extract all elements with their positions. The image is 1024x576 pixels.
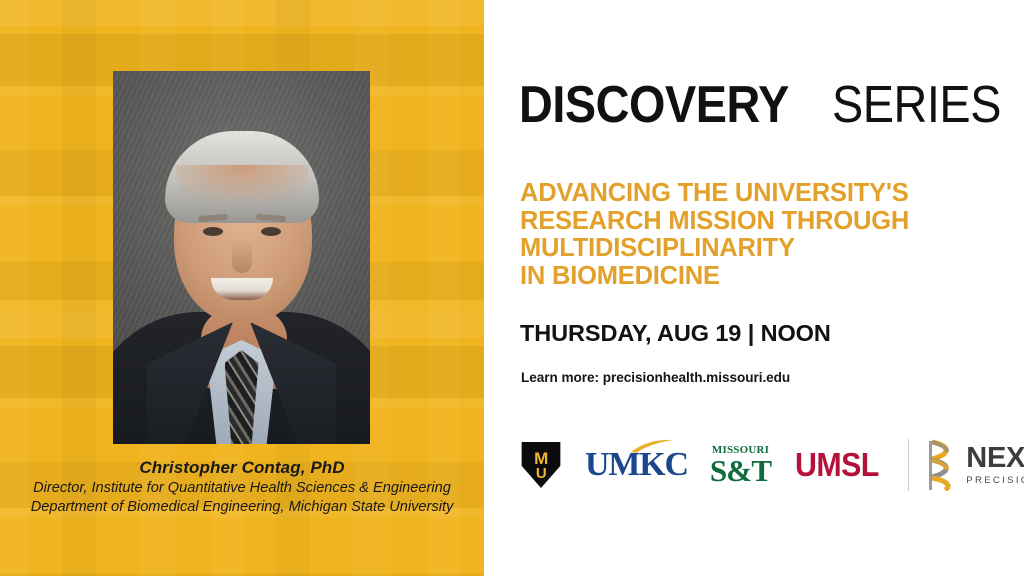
poster-content-column: DISCOVERY SERIES ADVANCING THE UNIVERSIT… bbox=[519, 0, 1024, 576]
headline-line-3: MULTIDISCIPLINARITY bbox=[520, 235, 1010, 263]
speaker-affiliation-line-1: Director, Institute for Quantitative Hea… bbox=[0, 479, 484, 498]
mu-letter-u: U bbox=[519, 466, 563, 481]
headline-line-4: IN BIOMEDICINE bbox=[520, 263, 1010, 291]
missouri-st-main-word: S&T bbox=[710, 456, 771, 486]
umsl-logo: UMSL bbox=[795, 446, 879, 484]
portrait-nose bbox=[232, 239, 252, 273]
portrait-eye-left bbox=[203, 227, 223, 236]
gold-background-panel: Christopher Contag, PhD Director, Instit… bbox=[0, 0, 484, 576]
nextgen-subtitle: PRECISION HEALTH bbox=[966, 474, 1024, 487]
logo-divider bbox=[908, 439, 909, 491]
dna-helix-icon bbox=[927, 439, 957, 491]
speaker-affiliation-line-2: Department of Biomedical Engineering, Mi… bbox=[0, 498, 484, 517]
series-title-strong: DISCOVERY bbox=[519, 79, 789, 131]
headline-line-1: ADVANCING THE UNIVERSITY'S bbox=[520, 180, 1010, 208]
missouri-st-logo: MISSOURI S&T bbox=[710, 445, 771, 486]
speaker-caption: Christopher Contag, PhD Director, Instit… bbox=[0, 457, 484, 517]
learn-more-url[interactable]: Learn more: precisionhealth.missouri.edu bbox=[521, 370, 790, 385]
umkc-logo: UMKC bbox=[585, 448, 688, 482]
event-datetime: THURSDAY, AUG 19 | NOON bbox=[520, 320, 831, 347]
mu-letter-m: M bbox=[519, 451, 563, 466]
discovery-series-poster: Christopher Contag, PhD Director, Instit… bbox=[0, 0, 1024, 576]
event-headline: ADVANCING THE UNIVERSITY'S RESEARCH MISS… bbox=[520, 180, 1010, 290]
nextgen-name: NEXTGEN bbox=[966, 444, 1024, 472]
portrait-eye-right bbox=[261, 227, 281, 236]
nextgen-text-block: NEXTGEN PRECISION HEALTH bbox=[966, 444, 1024, 487]
mu-letters: M U bbox=[519, 451, 563, 481]
umkc-swoosh-icon bbox=[630, 439, 674, 454]
series-title-light: SERIES bbox=[832, 79, 1001, 131]
series-title: DISCOVERY SERIES bbox=[519, 79, 1020, 131]
speaker-name: Christopher Contag, PhD bbox=[0, 457, 484, 479]
headline-line-2: RESEARCH MISSION THROUGH bbox=[520, 208, 1010, 236]
partner-logo-row: M U UMKC MISSOURI S&T UMSL bbox=[519, 432, 1024, 498]
speaker-portrait bbox=[113, 71, 370, 444]
nextgen-logo: NEXTGEN PRECISION HEALTH bbox=[927, 439, 1024, 491]
mu-logo: M U bbox=[519, 442, 563, 488]
